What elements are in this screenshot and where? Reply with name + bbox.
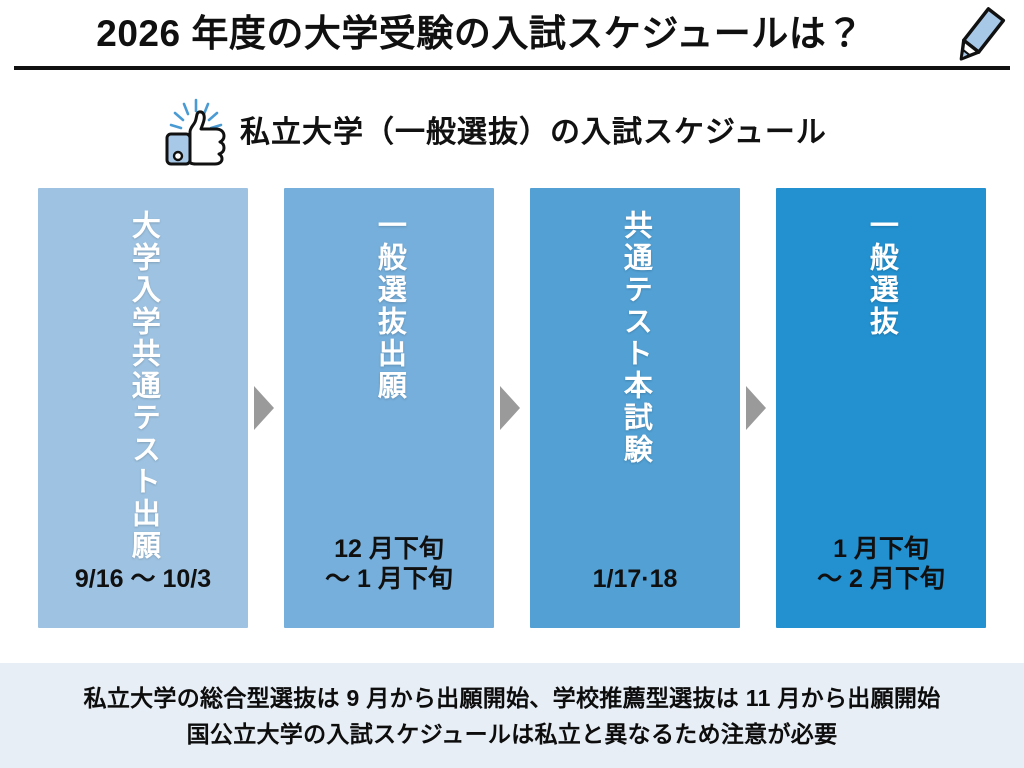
- timeline-step-label-text: 一般選抜: [866, 210, 897, 338]
- pencil-icon: [944, 6, 1010, 70]
- timeline-step-4: 一般選抜 1 月下旬 〜 2 月下旬: [776, 188, 986, 628]
- timeline-step-label: 一般選抜: [776, 210, 986, 338]
- page-header: 2026 年度の大学受験の入試スケジュールは？: [0, 0, 1024, 72]
- footer-note-line-2: 国公立大学の入試スケジュールは私立と異なるため注意が必要: [187, 716, 838, 752]
- page-title: 2026 年度の大学受験の入試スケジュールは？: [0, 8, 960, 60]
- triangle-right-icon: [500, 386, 520, 430]
- timeline-step-date: 1 月下旬 〜 2 月下旬: [776, 534, 986, 594]
- schedule-timeline: 大学入学共通テスト出願 9/16 〜 10/3 一般選抜出願 12 月下旬 〜 …: [0, 188, 1024, 630]
- thumbs-up-icon: [162, 98, 236, 166]
- triangle-right-icon: [254, 386, 274, 430]
- timeline-step-label: 一般選抜出願: [284, 210, 494, 402]
- timeline-step-label: 共通テスト本試験: [530, 210, 740, 466]
- timeline-step-label-text: 大学入学共通テスト出願: [128, 210, 159, 562]
- timeline-step-label-text: 共通テスト本試験: [620, 210, 651, 466]
- timeline-step-3: 共通テスト本試験 1/17·18: [530, 188, 740, 628]
- subtitle-text: 私立大学（一般選抜）の入試スケジュール: [240, 112, 827, 154]
- timeline-step-date: 1/17·18: [530, 564, 740, 594]
- timeline-step-label: 大学入学共通テスト出願: [38, 210, 248, 562]
- timeline-step-2: 一般選抜出願 12 月下旬 〜 1 月下旬: [284, 188, 494, 628]
- timeline-step-date: 12 月下旬 〜 1 月下旬: [284, 534, 494, 594]
- footer-note-line-1: 私立大学の総合型選抜は 9 月から出願開始、学校推薦型選抜は 11 月から出願開…: [84, 680, 941, 716]
- timeline-step-label-text: 一般選抜出願: [374, 210, 405, 402]
- footer-note: 私立大学の総合型選抜は 9 月から出願開始、学校推薦型選抜は 11 月から出願開…: [0, 663, 1024, 768]
- timeline-step-1: 大学入学共通テスト出願 9/16 〜 10/3: [38, 188, 248, 628]
- triangle-right-icon: [746, 386, 766, 430]
- subtitle-row: 私立大学（一般選抜）の入試スケジュール: [0, 98, 1024, 170]
- header-divider-rule: [14, 66, 1010, 70]
- timeline-step-date: 9/16 〜 10/3: [38, 564, 248, 594]
